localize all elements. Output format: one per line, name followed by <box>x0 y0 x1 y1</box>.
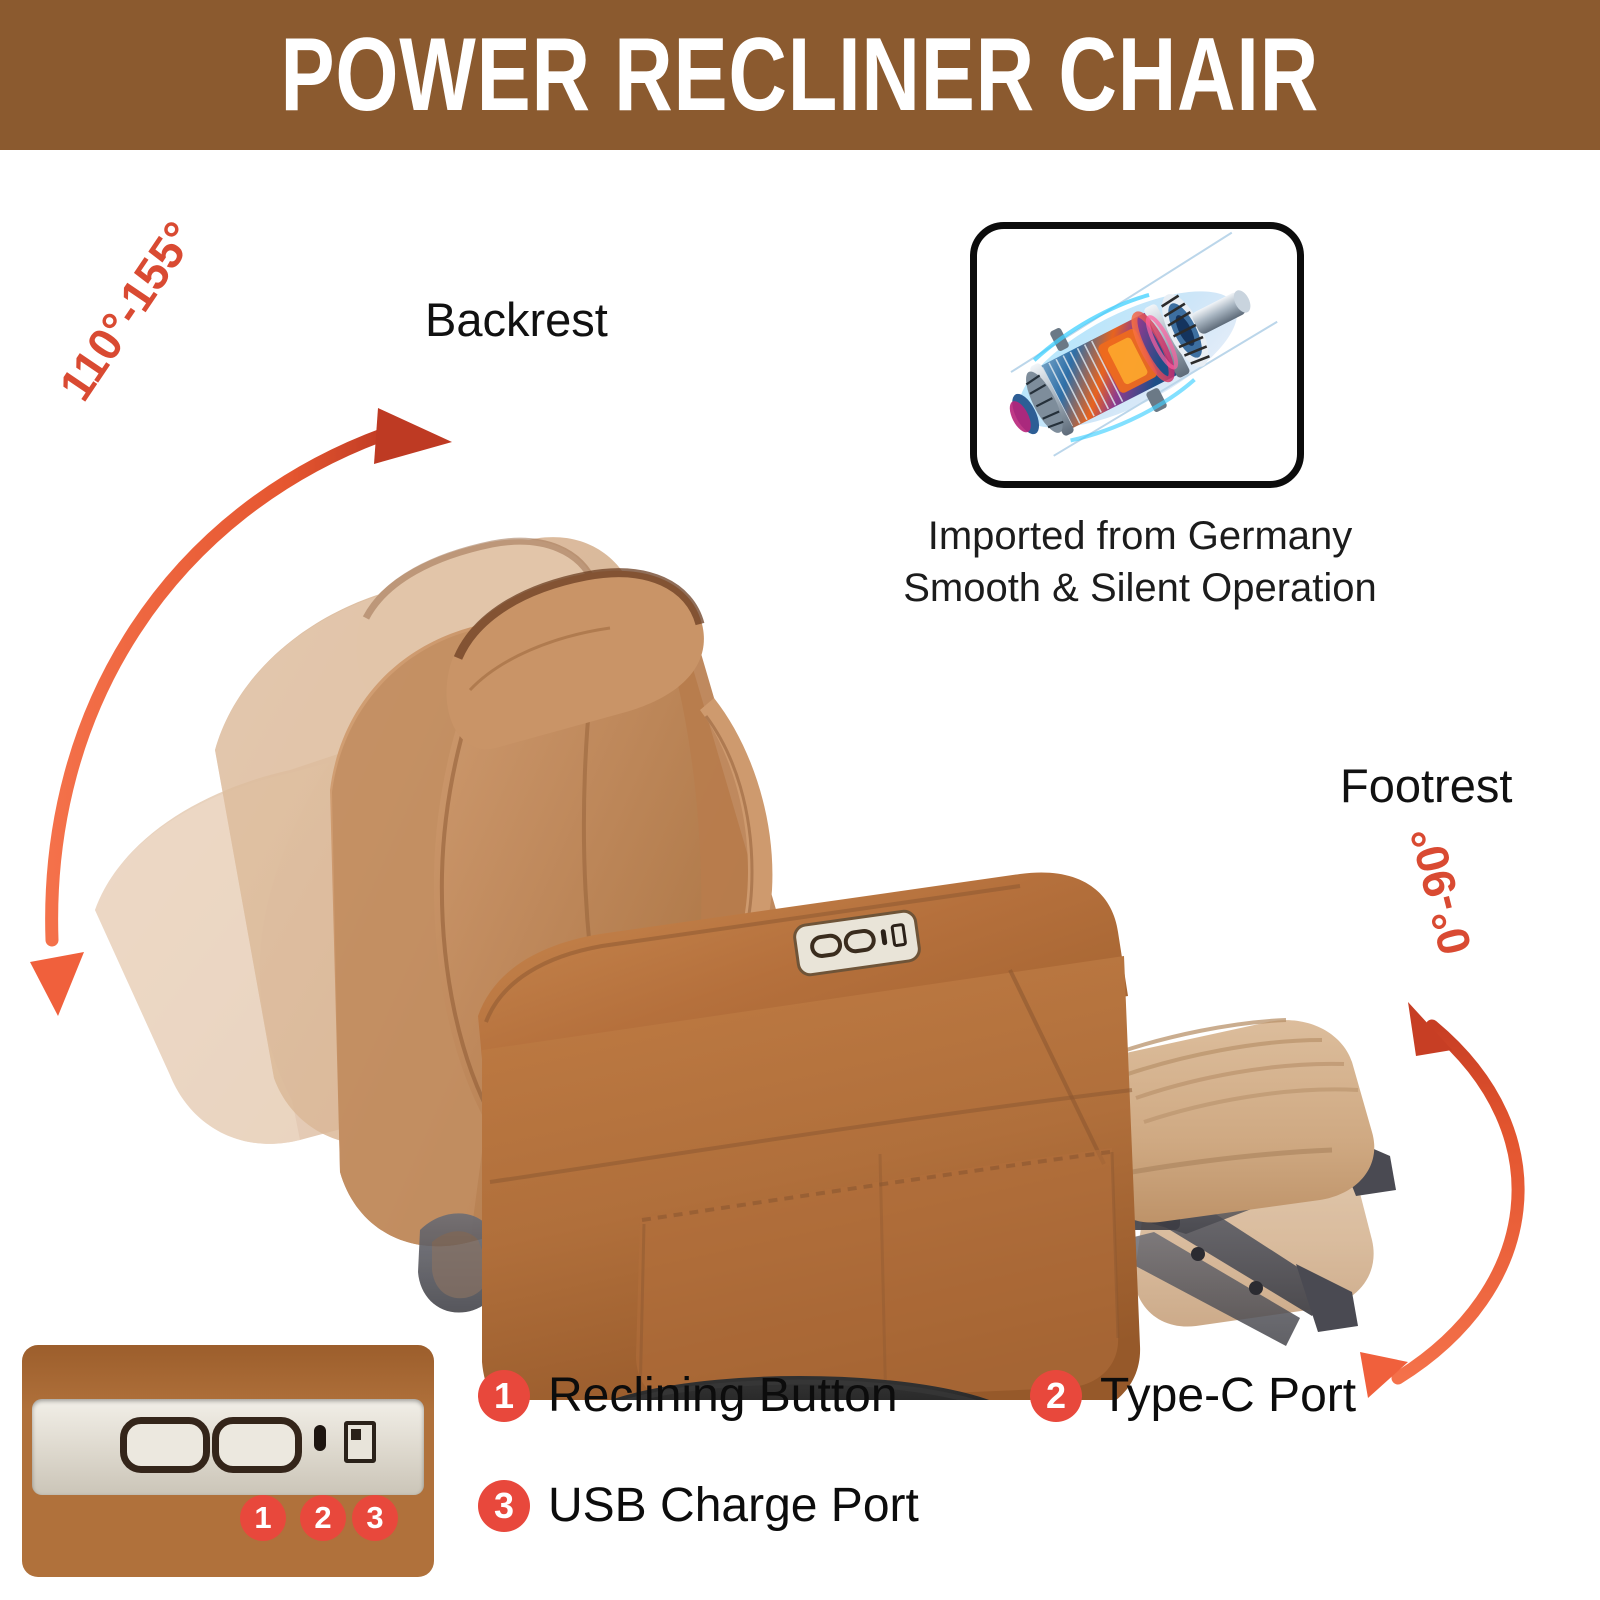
legend-label-3: USB Charge Port <box>548 1478 919 1533</box>
usb-a-port-inner <box>351 1429 361 1440</box>
legend-badge-1: 1 <box>478 1370 530 1422</box>
inset-marker-3: 3 <box>352 1495 398 1541</box>
type-c-port-icon <box>314 1425 326 1451</box>
legend-label-2: Type-C Port <box>1100 1368 1356 1423</box>
header-banner: POWER RECLINER CHAIR <box>0 0 1600 150</box>
legend-item-reclining-button: 1 Reclining Button <box>478 1368 898 1423</box>
page-title: POWER RECLINER CHAIR <box>281 23 1320 127</box>
control-strip <box>32 1399 424 1495</box>
usb-a-port-icon <box>344 1421 376 1463</box>
inset-marker-1: 1 <box>240 1495 286 1541</box>
motor-caption: Imported from Germany Smooth & Silent Op… <box>880 510 1400 614</box>
motor-caption-line2: Smooth & Silent Operation <box>880 562 1400 614</box>
reclining-button-oval-right[interactable] <box>212 1417 302 1473</box>
legend-item-type-c-port: 2 Type-C Port <box>1030 1368 1356 1423</box>
reclining-button-oval-left[interactable] <box>120 1417 210 1473</box>
legend-label-1: Reclining Button <box>548 1368 898 1423</box>
legend-item-usb-charge-port: 3 USB Charge Port <box>478 1478 919 1533</box>
control-panel-detail-inset: 1 2 3 <box>22 1345 434 1577</box>
legend-badge-2: 2 <box>1030 1370 1082 1422</box>
electric-motor-icon <box>977 229 1297 481</box>
motor-callout-box <box>970 222 1304 488</box>
legend-badge-3: 3 <box>478 1480 530 1532</box>
motor-caption-line1: Imported from Germany <box>880 510 1400 562</box>
footrest-label: Footrest <box>1340 758 1512 813</box>
backrest-label: Backrest <box>425 292 608 347</box>
inset-marker-2: 2 <box>300 1495 346 1541</box>
footrest-angle-arrow <box>1360 1002 1518 1398</box>
infographic-page: POWER RECLINER CHAIR <box>0 0 1600 1600</box>
